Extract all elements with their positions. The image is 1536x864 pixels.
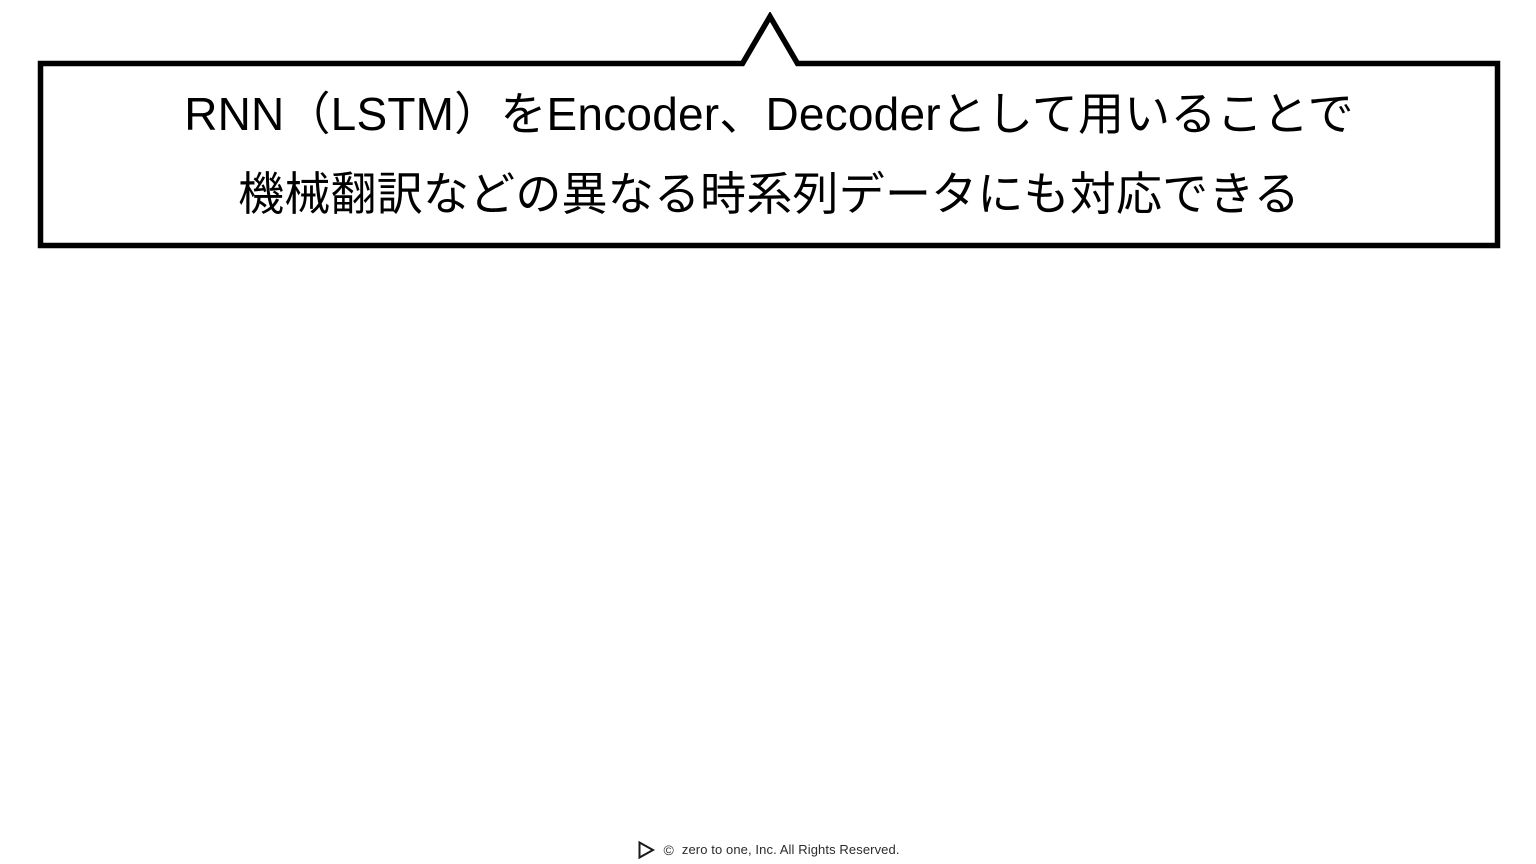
footer-copyright: © zero to one, Inc. All Rights Reserved. xyxy=(663,840,899,860)
callout-box: RNN（LSTM）をEncoder、Decoderとして用いることで 機械翻訳な… xyxy=(36,12,1502,250)
play-triangle-icon xyxy=(636,840,656,860)
slide-canvas: RNN（LSTM）をEncoder、Decoderとして用いることで 機械翻訳な… xyxy=(0,0,1536,864)
footer: © zero to one, Inc. All Rights Reserved. xyxy=(0,836,1536,864)
copyright-symbol: © xyxy=(663,840,673,860)
callout-line-1: RNN（LSTM）をEncoder、Decoderとして用いることで xyxy=(184,74,1354,154)
copyright-text: zero to one, Inc. All Rights Reserved. xyxy=(682,840,900,860)
callout-line-2: 機械翻訳などの異なる時系列データにも対応できる xyxy=(238,154,1300,234)
callout-text-block: RNN（LSTM）をEncoder、Decoderとして用いることで 機械翻訳な… xyxy=(36,57,1502,250)
